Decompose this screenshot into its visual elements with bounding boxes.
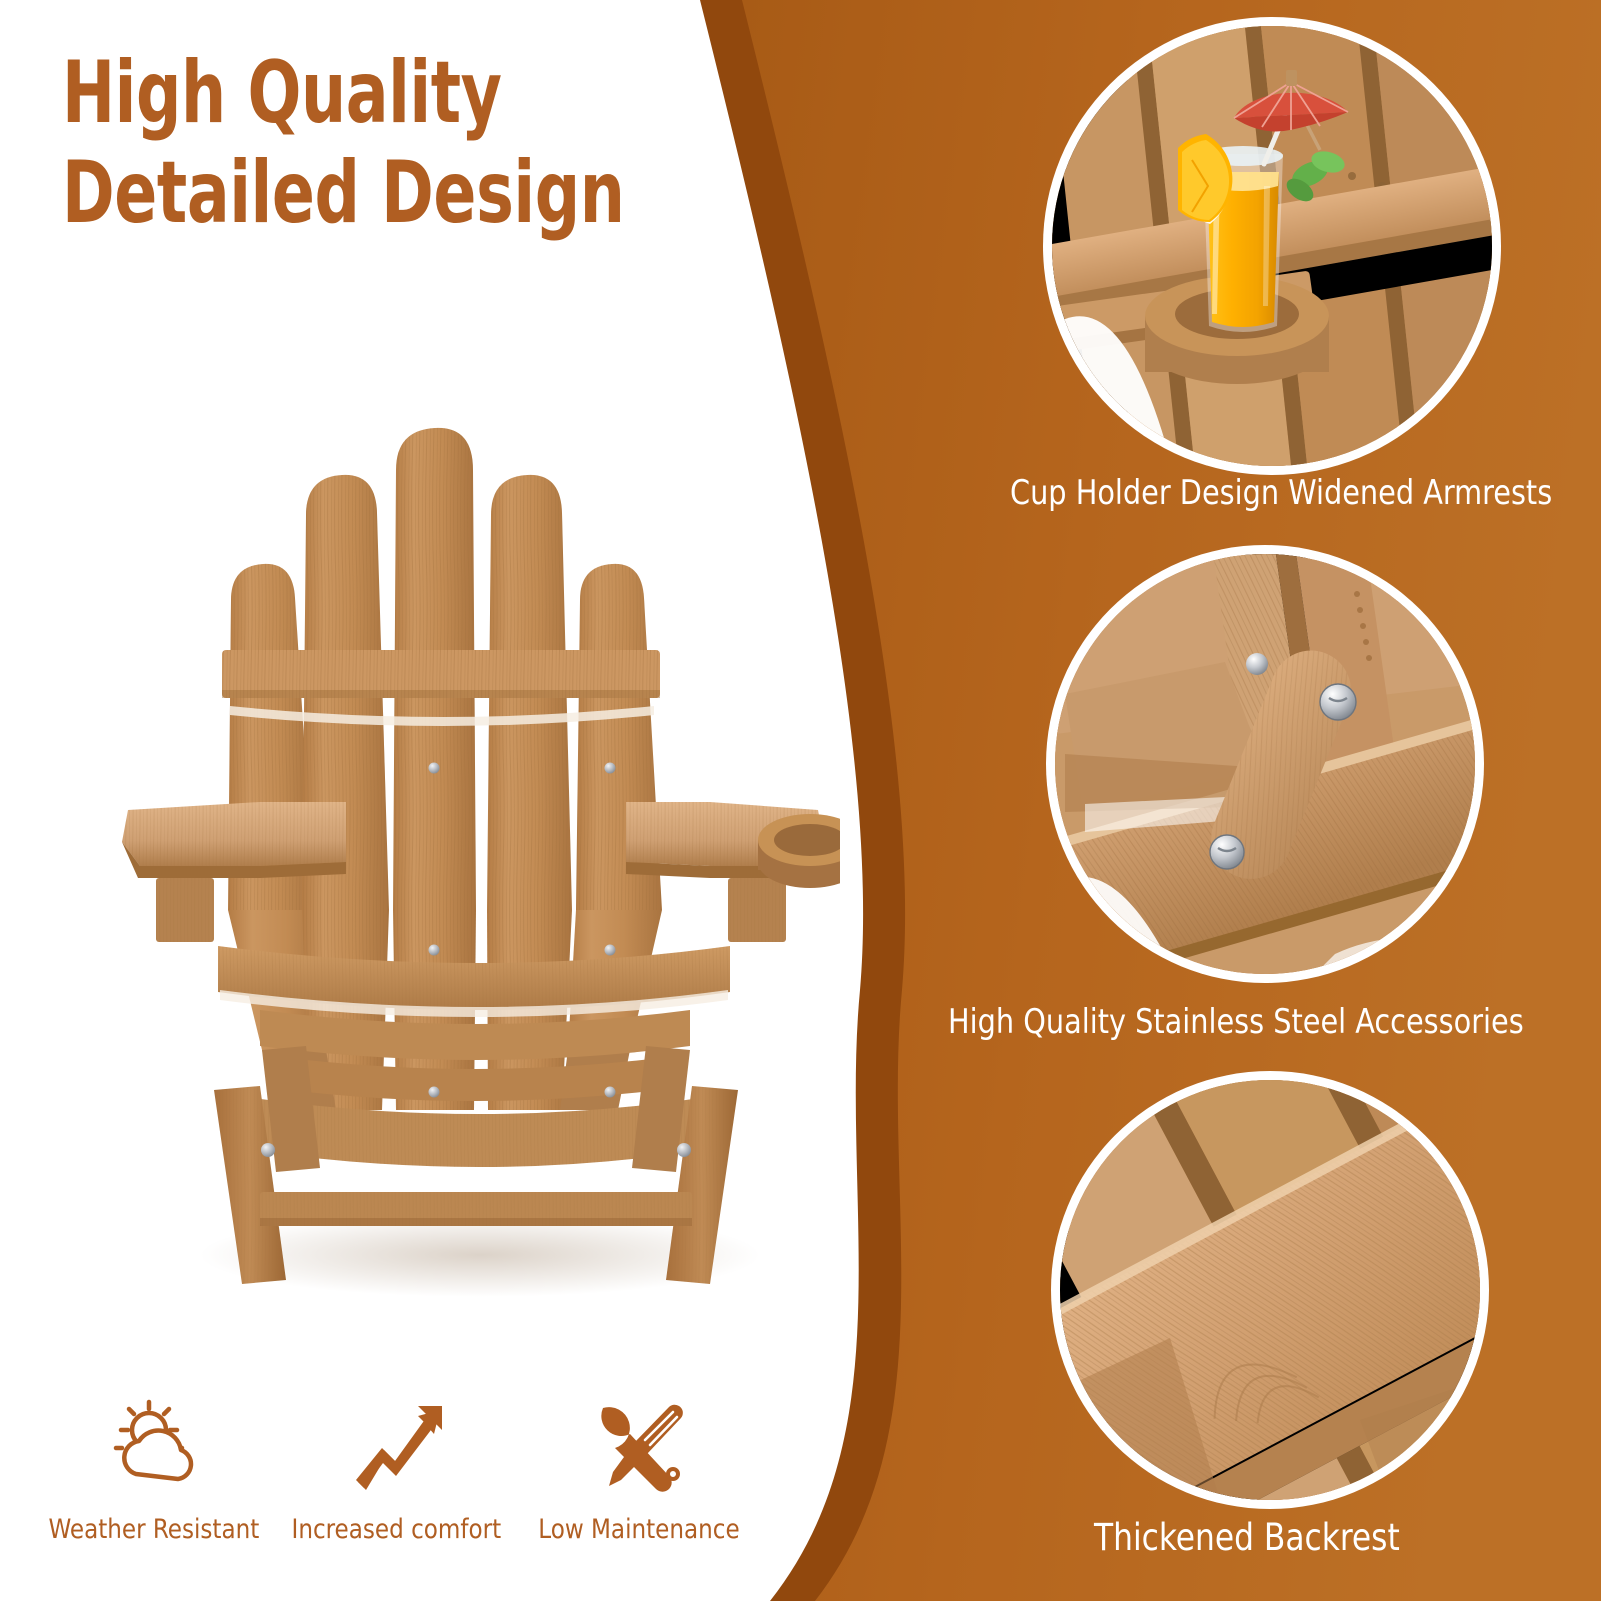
infographic-canvas: High Quality Detailed Design <box>0 0 1601 1601</box>
cup-holder <box>758 814 840 888</box>
feature-low-maintenance: Low Maintenance <box>531 1392 746 1545</box>
main-product-image <box>110 350 840 1310</box>
inset-cup-holder <box>1052 26 1492 466</box>
trending-up-arrow-icon <box>344 1392 448 1496</box>
feature-increased-comfort: Increased comfort <box>289 1392 504 1545</box>
inset-caption-thickened-backrest: Thickened Backrest <box>1094 1516 1400 1559</box>
inset-thickened-backrest <box>1060 1080 1480 1500</box>
inset-stainless-hardware <box>1055 554 1475 974</box>
backrest-cross-rail <box>222 650 660 698</box>
sun-behind-cloud-icon <box>102 1392 206 1496</box>
wrench-screwdriver-icon <box>587 1392 691 1496</box>
inset-caption-stainless-hardware: High Quality Stainless Steel Accessories <box>948 1002 1524 1042</box>
feature-label: Weather Resistant <box>48 1514 259 1545</box>
page-title: High Quality Detailed Design <box>62 44 636 244</box>
feature-label: Increased comfort <box>291 1514 501 1545</box>
inset-caption-cup-holder: Cup Holder Design Widened Armrests <box>1010 473 1552 513</box>
feature-label: Low Maintenance <box>538 1514 739 1545</box>
feature-weather-resistant: Weather Resistant <box>46 1392 261 1545</box>
title-line-2: Detailed Design <box>62 144 636 244</box>
title-line-1: High Quality <box>62 44 636 144</box>
feature-icon-strip: Weather Resistant Increased comfort <box>46 1345 746 1545</box>
